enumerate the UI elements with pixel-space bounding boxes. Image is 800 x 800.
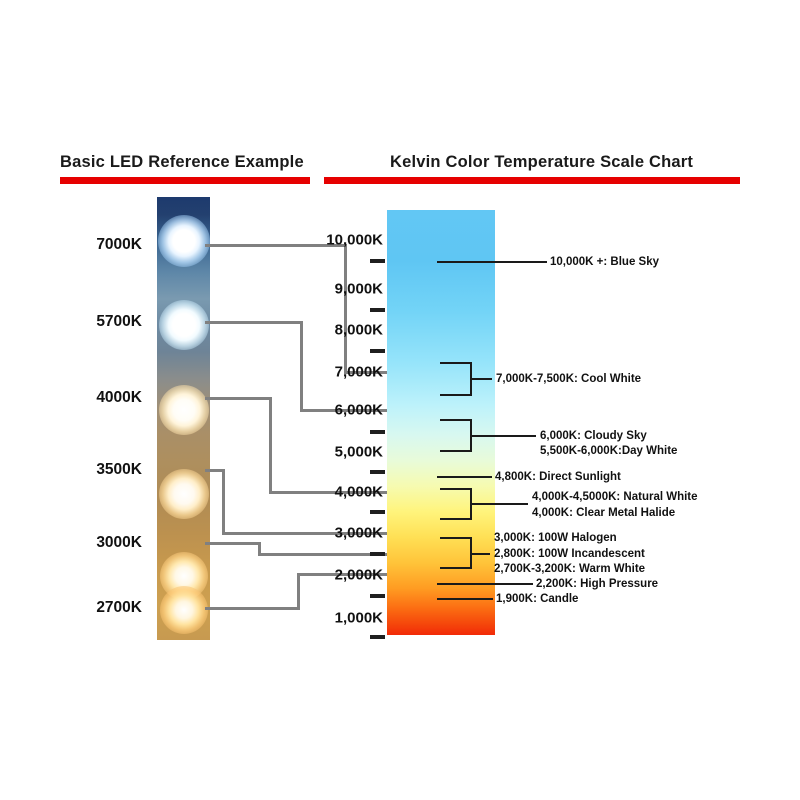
annotation-natural-white: 4,000K-4,5000K: Natural White (532, 491, 698, 503)
kelvin-tick-7000k: 7,000K (325, 364, 383, 381)
led-label-4000k: 4000K (96, 389, 142, 407)
lead-line-natural-white (470, 503, 528, 505)
lead-line-high-pressure (437, 583, 533, 585)
led-dot-2700k (160, 586, 208, 634)
minor-tick-8 (370, 594, 385, 598)
connector-7000k-seg2 (344, 244, 347, 372)
led-label-3000k: 3000K (96, 534, 142, 552)
kelvin-tick-8000k: 8,000K (325, 322, 383, 339)
connector-4000k-seg1 (205, 397, 272, 400)
minor-tick-5 (370, 470, 385, 474)
annotation-high-pressure: 2,200K: High Pressure (536, 578, 658, 590)
annotation-day-white: 5,500K-6,000K:Day White (540, 445, 677, 457)
bracket-warm-white (440, 537, 472, 569)
lead-line-direct-sunlight (437, 476, 492, 478)
right-panel-title: Kelvin Color Temperature Scale Chart (390, 153, 693, 172)
connector-4000k-seg2 (269, 397, 272, 492)
annotation-cool-white: 7,000K-7,500K: Cool White (496, 373, 641, 385)
right-title-underline (324, 177, 740, 184)
kelvin-tick-9000k: 9,000K (325, 281, 383, 298)
lead-line-cloudy-sky (470, 435, 536, 437)
bracket-cool-white (440, 362, 472, 396)
minor-tick-1 (370, 259, 385, 263)
kelvin-tick-5000k: 5,000K (325, 444, 383, 461)
kelvin-tick-2000k: 2,000K (325, 567, 383, 584)
kelvin-tick-3000k: 3,000K (325, 525, 383, 542)
minor-tick-7 (370, 552, 385, 556)
lead-line-cool-white (470, 378, 492, 380)
annotation-clear-metal-halide: 4,000K: Clear Metal Halide (532, 507, 675, 519)
minor-tick-6 (370, 510, 385, 514)
lead-line-incandescent (470, 553, 490, 555)
bracket-day-white (440, 419, 472, 452)
connector-2700k-seg2 (297, 574, 300, 608)
minor-tick-2 (370, 308, 385, 312)
kelvin-color-temperature-infographic: Basic LED Reference Example Kelvin Color… (0, 0, 800, 800)
led-dot-7000k (158, 215, 210, 267)
led-dot-5700k (159, 300, 209, 350)
led-dot-4000k (159, 385, 209, 435)
led-label-5700k: 5700K (96, 313, 142, 331)
led-label-column: 7000K 5700K 4000K 3500K 3000K 2700K (60, 0, 142, 800)
led-dot-3500k (159, 469, 209, 519)
kelvin-tick-1000k: 1,000K (325, 610, 383, 627)
bracket-natural-white (440, 488, 472, 520)
kelvin-tick-4000k: 4,000K (325, 484, 383, 501)
connector-5700k-seg2 (300, 321, 303, 410)
annotation-halogen: 3,000K: 100W Halogen (494, 532, 617, 544)
lead-line-candle (437, 598, 493, 600)
annotation-warm-white: 2,700K-3,200K: Warm White (494, 563, 645, 575)
annotation-candle: 1,900K: Candle (496, 593, 578, 605)
kelvin-tick-6000k: 6,000K (325, 402, 383, 419)
minor-tick-9 (370, 635, 385, 639)
minor-tick-3 (370, 349, 385, 353)
connector-2700k-seg1 (205, 607, 300, 610)
minor-tick-4 (370, 430, 385, 434)
led-strip-image (157, 197, 210, 640)
kelvin-tick-10000k: 10,000K (325, 232, 383, 249)
annotation-direct-sunlight: 4,800K: Direct Sunlight (495, 471, 621, 483)
annotation-blue-sky: 10,000K +: Blue Sky (550, 256, 659, 268)
annotation-cloudy-sky: 6,000K: Cloudy Sky (540, 430, 647, 442)
led-label-3500k: 3500K (96, 461, 142, 479)
led-label-7000k: 7000K (96, 236, 142, 254)
lead-line-blue-sky (437, 261, 547, 263)
led-label-2700k: 2700K (96, 599, 142, 617)
connector-3500k-seg2 (222, 469, 225, 533)
connector-5700k-seg1 (205, 321, 303, 324)
annotation-incandescent: 2,800K: 100W Incandescent (494, 548, 645, 560)
connector-3000k-line1 (205, 542, 261, 545)
